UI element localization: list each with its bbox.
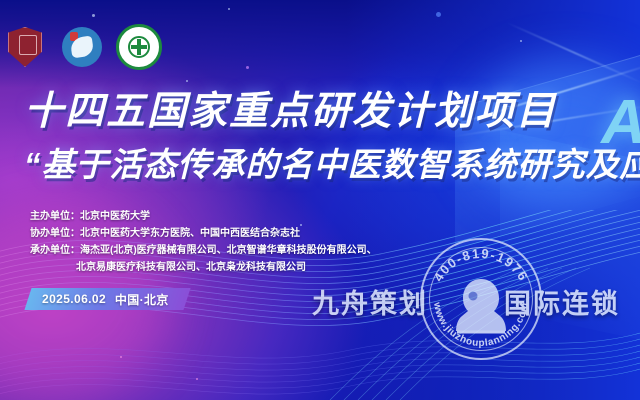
decor-letter-a: A xyxy=(601,92,640,154)
watermark: 九舟策划 国际连锁 400-819-1976 www.jiuzhouplanni… xyxy=(312,232,640,360)
decor-sparkle xyxy=(120,356,122,358)
medical-cross-icon xyxy=(137,39,141,55)
watermark-bird-icon xyxy=(454,276,508,334)
poster-image: 十四五国家重点研发计划项目 “基于活态传承的名中医数智系统研究及应用”启动会 主… xyxy=(0,0,640,400)
shield-icon xyxy=(8,27,42,67)
watermark-stamp-circle: 400-819-1976 www.jiuzhouplanning.com xyxy=(420,238,542,360)
decor-sparkle xyxy=(436,12,441,17)
logo-beijing-university-of-chinese-medicine xyxy=(8,27,48,67)
organizer-line-host: 主办单位：北京中医药大学 xyxy=(30,208,377,225)
event-date: 2025.06.02 xyxy=(42,292,106,306)
organization-logos xyxy=(8,24,162,70)
flag-icon xyxy=(70,32,78,41)
decor-sparkle xyxy=(92,14,95,17)
decor-sparkle xyxy=(228,8,230,10)
watermark-brand-left: 九舟策划 xyxy=(312,282,428,321)
event-location: 中国·北京 xyxy=(115,291,169,308)
date-location-badge: 2025.06.02 中国·北京 xyxy=(24,288,190,310)
logo-dongfang-hospital xyxy=(62,27,102,67)
decor-sparkle xyxy=(196,378,198,380)
decor-sparkle xyxy=(186,80,188,82)
decor-sparkle xyxy=(246,66,249,69)
page-subtitle: “基于活态传承的名中医数智系统研究及应用”启动会 xyxy=(24,148,640,181)
page-title: 十四五国家重点研发计划项目 xyxy=(24,92,557,131)
logo-chinese-integrative-medicine xyxy=(116,24,162,70)
decor-sparkle xyxy=(520,40,522,42)
